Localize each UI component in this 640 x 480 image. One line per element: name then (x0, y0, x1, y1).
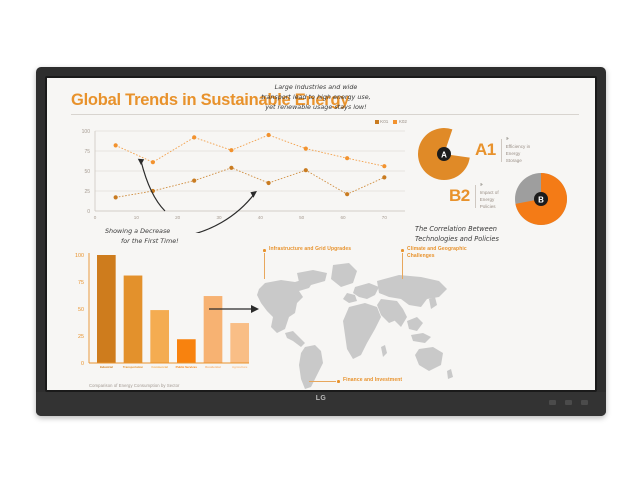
svg-text:0: 0 (87, 209, 90, 215)
annotation-line-2: for the First Time! (121, 237, 179, 247)
correlation-note: The Correlation Between Technologies and… (415, 225, 499, 245)
lg-brand-logo: LG (316, 395, 327, 402)
svg-text:10: 10 (134, 215, 140, 220)
kpi-b2-divider (475, 185, 476, 208)
center-note-line-3: yet renewable usage stays low! (243, 102, 389, 112)
svg-text:100: 100 (82, 129, 91, 135)
svg-text:75: 75 (84, 149, 90, 155)
center-note-line-1: Large industries and wide (243, 82, 389, 92)
legend-item-k01: K01 (375, 119, 389, 124)
kpi-section: A A1 ››› Efficiency in En (409, 121, 581, 239)
bottom-row: 0255075100 IndustrialTransportationComme… (63, 247, 581, 390)
svg-text:Public Services: Public Services (176, 365, 198, 369)
kpi-b2: B2 ››› Impact of Energy Policies (449, 183, 499, 210)
map-label-climate-line2: Challenges (407, 253, 469, 260)
svg-text:30: 30 (216, 215, 222, 220)
kpi-a1-text: Efficiency in Energy Storage (506, 143, 530, 164)
top-row: K01 K02 0255075100 0102030405060 (63, 121, 581, 241)
map-label-climate: Climate and Geographic Challenges (407, 246, 469, 260)
svg-text:100: 100 (75, 253, 84, 259)
kpi-a1-line3: Storage (506, 157, 530, 164)
kpi-a1-line2: Energy (506, 150, 530, 157)
line-chart-series (114, 133, 387, 200)
lg-display-monitor: Global Trends in Sustainable Energy K01 (36, 67, 606, 416)
svg-text:0: 0 (81, 361, 84, 367)
title-divider (71, 114, 579, 115)
kpi-b2-line3: Policies (480, 203, 499, 210)
kpi-a1: A1 ››› Efficiency in Energy Storage (475, 137, 530, 164)
correlation-note-line-1: The Correlation Between (415, 225, 499, 235)
presentation-slide: Global Trends in Sustainable Energy K01 (47, 78, 595, 390)
screenshot-root: Global Trends in Sustainable Energy K01 (0, 0, 640, 480)
donut-a-badge: A (441, 150, 447, 159)
svg-text:50: 50 (299, 215, 305, 220)
svg-text:50: 50 (78, 307, 84, 313)
monitor-bezel: Global Trends in Sustainable Energy K01 (45, 76, 597, 392)
kpi-a1-body: ››› Efficiency in Energy Storage (506, 137, 530, 164)
legend-item-k02: K02 (393, 119, 407, 124)
world-map-svg (251, 255, 456, 390)
map-dot-finance (337, 380, 340, 383)
bar-chart-caption: Comparison of Energy Consumption by Sect… (89, 383, 180, 388)
svg-text:20: 20 (175, 215, 181, 220)
port-icon (581, 400, 588, 405)
port-icon (549, 400, 556, 405)
annotation-line-1: Showing a Decrease (105, 227, 179, 237)
svg-text:Industrial: Industrial (100, 365, 113, 369)
map-label-climate-line1: Climate and Geographic (407, 246, 469, 253)
map-dot-climate (401, 249, 404, 252)
svg-text:70: 70 (382, 215, 388, 220)
kpi-b2-code: B2 (449, 186, 470, 206)
svg-text:75: 75 (78, 280, 84, 286)
legend-label-k02: K02 (399, 119, 407, 124)
kpi-b2-line2: Energy (480, 196, 499, 203)
map-leader-infrastructure (264, 253, 265, 279)
svg-text:25: 25 (84, 189, 90, 195)
donut-chart-a: A (415, 125, 473, 183)
kpi-a1-line1: Efficiency in (506, 143, 530, 150)
donut-b-badge: B (538, 195, 544, 204)
svg-text:0: 0 (94, 215, 97, 220)
bar-chart-y-ticks: 0255075100 (75, 253, 84, 367)
kpi-a1-chart: A (415, 125, 473, 188)
kpi-a1-divider (501, 139, 502, 162)
monitor-screen: Global Trends in Sustainable Energy K01 (47, 78, 595, 390)
correlation-note-line-2: Technologies and Policies (415, 235, 499, 245)
monitor-bottom-bezel: LG (36, 392, 606, 416)
svg-text:40: 40 (258, 215, 264, 220)
legend-swatch-k02 (393, 120, 397, 124)
line-chart: K01 K02 0255075100 0102030405060 (69, 121, 409, 233)
world-map-section: Infrastructure and Grid Upgrades Climate… (259, 247, 581, 389)
svg-text:Transportation: Transportation (123, 365, 143, 369)
line-chart-legend: K01 K02 (375, 119, 407, 124)
svg-text:Commercial: Commercial (151, 365, 168, 369)
map-pointer-arrow (207, 297, 267, 323)
kpi-b2-text: Impact of Energy Policies (480, 189, 499, 210)
bezel-control-icons (549, 400, 588, 405)
line-chart-y-ticks: 0255075100 (82, 129, 91, 215)
svg-text:25: 25 (78, 334, 84, 340)
center-annotation: Large industries and wide transport lead… (243, 82, 389, 112)
map-leader-finance (309, 381, 336, 382)
map-dot-infrastructure (263, 249, 266, 252)
kpi-b2-line1: Impact of (480, 189, 499, 196)
map-leader-climate (402, 253, 403, 279)
line-chart-svg: 0255075100 010203040506070 (69, 127, 409, 233)
map-label-finance: Finance and Investment (343, 377, 402, 384)
port-icon (565, 400, 572, 405)
legend-label-k01: K01 (380, 119, 388, 124)
donut-chart-b: B (513, 171, 569, 227)
legend-swatch-k01 (375, 120, 379, 124)
svg-text:Residential: Residential (205, 365, 221, 369)
svg-text:60: 60 (340, 215, 346, 220)
map-label-infrastructure: Infrastructure and Grid Upgrades (269, 246, 351, 253)
annotation-arrows (138, 159, 257, 233)
svg-text:50: 50 (84, 169, 90, 175)
center-note-line-2: transport lead to high energy use, (243, 92, 389, 102)
kpi-b2-chart: B (513, 171, 569, 232)
svg-text:Agriculture: Agriculture (232, 365, 248, 369)
kpi-b2-body: ››› Impact of Energy Policies (480, 183, 499, 210)
kpi-a1-code: A1 (475, 140, 496, 160)
line-chart-x-ticks: 010203040506070 (94, 215, 388, 220)
line-chart-annotation: Showing a Decrease for the First Time! (105, 227, 179, 247)
bar-chart-category-labels: IndustrialTransportationCommercialPublic… (100, 365, 248, 369)
